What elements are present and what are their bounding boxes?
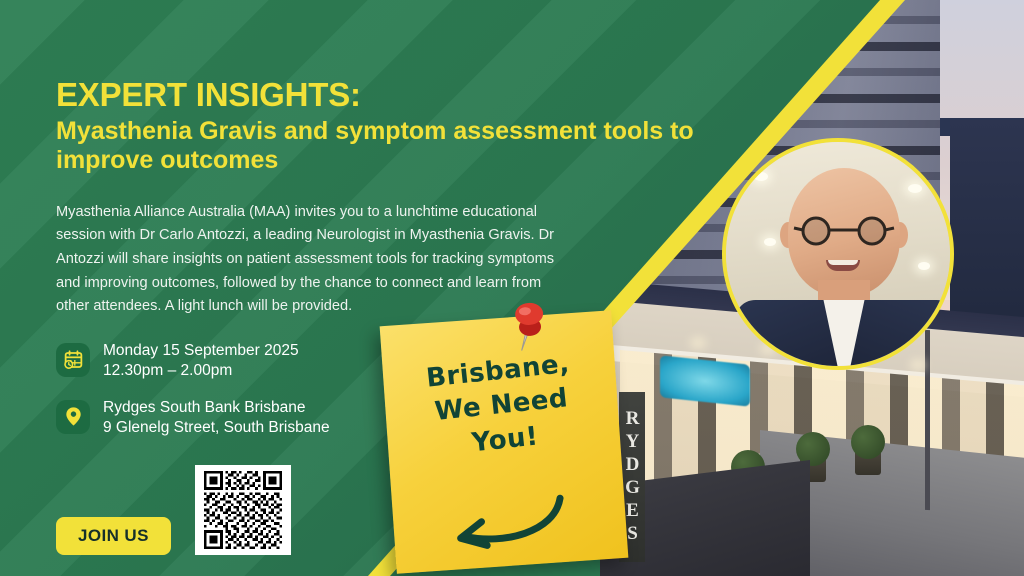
venue-address: 9 Glenelg Street, South Brisbane (103, 418, 330, 438)
date-time-text: Monday 15 September 2025 12.30pm – 2.00p… (103, 341, 299, 382)
map-pin-icon (64, 406, 83, 427)
portrait-light (908, 184, 922, 193)
location-badge (56, 400, 90, 434)
curved-arrow-icon (440, 492, 574, 557)
portrait-teeth (828, 260, 858, 265)
subtitle: Myasthenia Gravis and symptom assessment… (56, 117, 706, 176)
body-paragraph: Myasthenia Alliance Australia (MAA) invi… (56, 201, 561, 319)
join-us-button[interactable]: JOIN US (56, 517, 171, 555)
event-date: Monday 15 September 2025 (103, 341, 299, 361)
shrub (851, 425, 885, 459)
pushpin-icon (504, 298, 554, 353)
sticky-note: Brisbane, We Need You! (380, 310, 629, 574)
portrait-jacket-left (731, 300, 840, 370)
event-time: 12.30pm – 2.00pm (103, 361, 299, 381)
sticky-note-text: Brisbane, We Need You! (381, 342, 622, 469)
event-flyer: RYDGES (0, 0, 1024, 576)
page-title: EXPERT INSIGHTS: (56, 78, 716, 113)
portrait-jacket-right (847, 300, 954, 370)
calendar-badge (56, 343, 90, 377)
venue-name: Rydges South Bank Brisbane (103, 398, 330, 418)
qr-code-image (201, 471, 285, 549)
location-text: Rydges South Bank Brisbane 9 Glenelg Str… (103, 398, 330, 439)
portrait-light (764, 238, 776, 246)
portrait-light (918, 262, 930, 270)
glasses-icon (792, 216, 896, 246)
qr-code[interactable] (195, 465, 291, 555)
speaker-portrait (722, 138, 954, 370)
calendar-clock-icon (63, 349, 84, 370)
portrait-light (754, 172, 768, 181)
